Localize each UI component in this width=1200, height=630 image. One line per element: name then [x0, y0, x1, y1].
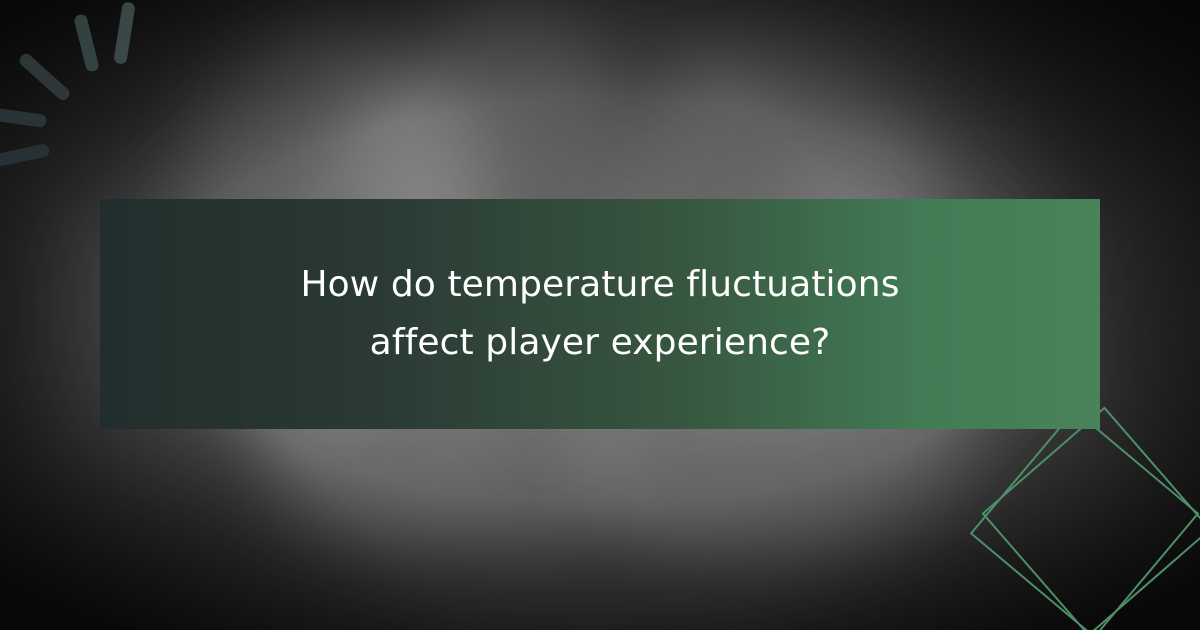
- share-card: How do temperature fluctuations affect p…: [0, 0, 1200, 630]
- page-title: How do temperature fluctuations affect p…: [250, 256, 950, 372]
- headline-banner: How do temperature fluctuations affect p…: [100, 199, 1100, 429]
